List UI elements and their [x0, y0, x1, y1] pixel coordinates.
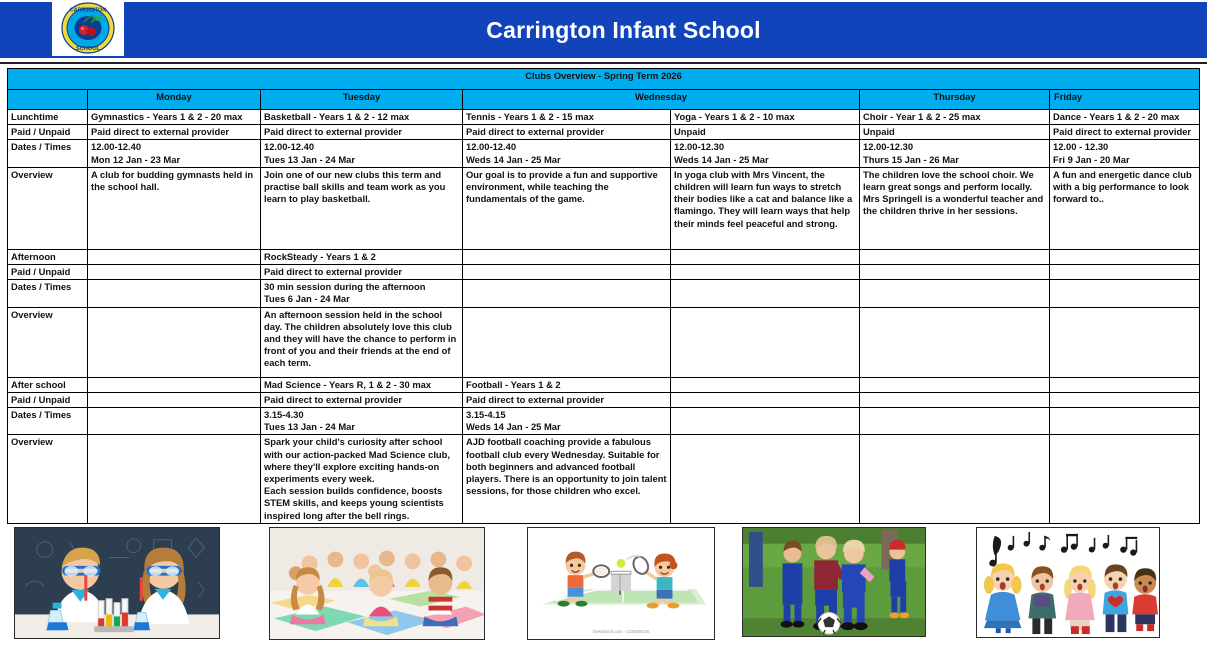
dates-times-0 [88, 408, 261, 435]
paid-status-0 [88, 265, 261, 280]
section-after_school-club-row: After schoolMad Science - Years R, 1 & 2… [8, 377, 1200, 392]
section-afternoon-dates-row: Dates / Times30 min session during the a… [8, 280, 1200, 307]
paid-status-2 [463, 265, 671, 280]
dates-times-5 [1050, 408, 1200, 435]
day-header-thursday[interactable]: Thursday [860, 90, 1050, 110]
dates-times-5 [1050, 280, 1200, 307]
club-name-1: RockSteady - Years 1 & 2 [261, 249, 463, 264]
section-lunchtime-dates-row: Dates / Times12.00-12.40Mon 12 Jan - 23 … [8, 140, 1200, 167]
row-label: Paid / Unpaid [8, 125, 88, 140]
club-name-5: Dance - Years 1 & 2 - 20 max [1050, 110, 1200, 125]
row-label: After school [8, 377, 88, 392]
section-afternoon-overview-row: OverviewAn afternoon session held in the… [8, 307, 1200, 377]
club-name-4 [860, 249, 1050, 264]
dates-times-2: 3.15-4.15Weds 14 Jan - 25 Mar [463, 408, 671, 435]
table-title-row: Clubs Overview - Spring Term 2026 [8, 69, 1200, 90]
row-label: Dates / Times [8, 408, 88, 435]
paid-status-4 [860, 265, 1050, 280]
photo-yoga-children [269, 527, 485, 640]
overview-text-1: Spark your child's curiosity after schoo… [261, 435, 463, 523]
row-label: Paid / Unpaid [8, 392, 88, 407]
overview-text-0 [88, 435, 261, 523]
section-after_school-paid-row: Paid / UnpaidPaid direct to external pro… [8, 392, 1200, 407]
overview-text-1: An afternoon session held in the school … [261, 307, 463, 377]
section-after_school-overview-row: OverviewSpark your child's curiosity aft… [8, 435, 1200, 523]
club-name-1: Basketball - Years 1 & 2 - 12 max [261, 110, 463, 125]
banner-divider [0, 62, 1207, 64]
section-after_school-dates-row: Dates / Times3.15-4.30Tues 13 Jan - 24 M… [8, 408, 1200, 435]
club-name-1: Mad Science - Years R, 1 & 2 - 30 max [261, 377, 463, 392]
overview-text-5 [1050, 435, 1200, 523]
club-name-2: Tennis - Years 1 & 2 - 15 max [463, 110, 671, 125]
club-name-5 [1050, 377, 1200, 392]
club-name-2: Football - Years 1 & 2 [463, 377, 671, 392]
dates-times-1: 3.15-4.30Tues 13 Jan - 24 Mar [261, 408, 463, 435]
school-logo: CARRINGTON SCHOOL [52, 0, 124, 56]
row-label: Dates / Times [8, 280, 88, 307]
table-corner-cell [8, 90, 88, 110]
dates-times-2: 12.00-12.40Weds 14 Jan - 25 Mar [463, 140, 671, 167]
paid-status-4 [860, 392, 1050, 407]
day-header-row: MondayTuesdayWednesdayThursdayFriday [8, 90, 1200, 110]
dates-times-4 [860, 280, 1050, 307]
photo-football-children [742, 527, 926, 637]
day-header-wednesday[interactable]: Wednesday [463, 90, 860, 110]
row-label: Overview [8, 167, 88, 249]
row-label: Paid / Unpaid [8, 265, 88, 280]
dates-times-3: 12.00-12.30Weds 14 Jan - 25 Mar [671, 140, 860, 167]
photo-watermark: thekidsrock.com - 2330606200 [593, 629, 650, 634]
row-label: Lunchtime [8, 110, 88, 125]
section-lunchtime-overview-row: OverviewA club for budding gymnasts held… [8, 167, 1200, 249]
overview-text-2: AJD football coaching provide a fabulous… [463, 435, 671, 523]
paid-status-3 [671, 392, 860, 407]
club-name-3 [671, 249, 860, 264]
paid-status-2: Paid direct to external provider [463, 392, 671, 407]
day-header-tuesday[interactable]: Tuesday [261, 90, 463, 110]
overview-text-3: In yoga club with Mrs Vincent, the child… [671, 167, 860, 249]
paid-status-2: Paid direct to external provider [463, 125, 671, 140]
logo-top-text: CARRINGTON [70, 8, 107, 14]
overview-text-3 [671, 307, 860, 377]
row-label: Overview [8, 435, 88, 523]
row-label: Afternoon [8, 249, 88, 264]
paid-status-1: Paid direct to external provider [261, 125, 463, 140]
overview-text-2 [463, 307, 671, 377]
club-name-3 [671, 377, 860, 392]
overview-text-4 [860, 435, 1050, 523]
paid-status-0 [88, 392, 261, 407]
school-crest-icon: CARRINGTON SCHOOL [60, 2, 116, 54]
table-title: Clubs Overview - Spring Term 2026 [8, 69, 1200, 90]
section-afternoon-club-row: AfternoonRockSteady - Years 1 & 2 [8, 249, 1200, 264]
page-banner: Carrington Infant School [0, 2, 1207, 58]
club-name-0 [88, 377, 261, 392]
club-name-2 [463, 249, 671, 264]
dates-times-2 [463, 280, 671, 307]
photo-science-children [14, 527, 220, 639]
row-label: Dates / Times [8, 140, 88, 167]
overview-text-3 [671, 435, 860, 523]
school-title: Carrington Infant School [0, 2, 1207, 58]
overview-text-4 [860, 307, 1050, 377]
paid-status-5 [1050, 392, 1200, 407]
dates-times-3 [671, 408, 860, 435]
section-afternoon-paid-row: Paid / UnpaidPaid direct to external pro… [8, 265, 1200, 280]
day-header-friday[interactable]: Friday [1050, 90, 1200, 110]
club-name-3: Yoga - Years 1 & 2 - 10 max [671, 110, 860, 125]
paid-status-4: Unpaid [860, 125, 1050, 140]
overview-text-1: Join one of our new clubs this term and … [261, 167, 463, 249]
paid-status-3 [671, 265, 860, 280]
paid-status-0: Paid direct to external provider [88, 125, 261, 140]
overview-text-0 [88, 307, 261, 377]
dates-times-3 [671, 280, 860, 307]
dates-times-5: 12.00 - 12.30Fri 9 Jan - 20 Mar [1050, 140, 1200, 167]
club-name-5 [1050, 249, 1200, 264]
paid-status-5: Paid direct to external provider [1050, 125, 1200, 140]
clubs-overview-table: Clubs Overview - Spring Term 2026MondayT… [7, 68, 1200, 524]
paid-status-1: Paid direct to external provider [261, 265, 463, 280]
overview-text-0: A club for budding gymnasts held in the … [88, 167, 261, 249]
club-name-0 [88, 249, 261, 264]
photo-strip: thekidsrock.com - 2330606200 [0, 527, 1207, 648]
dates-times-1: 30 min session during the afternoonTues … [261, 280, 463, 307]
overview-text-4: The children love the school choir. We l… [860, 167, 1050, 249]
dates-times-4: 12.00-12.30Thurs 15 Jan - 26 Mar [860, 140, 1050, 167]
dates-times-1: 12.00-12.40Tues 13 Jan - 24 Mar [261, 140, 463, 167]
dates-times-0: 12.00-12.40Mon 12 Jan - 23 Mar [88, 140, 261, 167]
paid-status-3: Unpaid [671, 125, 860, 140]
photo-choir-cartoon [976, 527, 1160, 638]
paid-status-1: Paid direct to external provider [261, 392, 463, 407]
overview-text-2: Our goal is to provide a fun and support… [463, 167, 671, 249]
overview-text-5: A fun and energetic dance club with a bi… [1050, 167, 1200, 249]
day-header-monday[interactable]: Monday [88, 90, 261, 110]
dates-times-4 [860, 408, 1050, 435]
photo-tennis-cartoon: thekidsrock.com - 2330606200 [527, 527, 715, 640]
overview-text-5 [1050, 307, 1200, 377]
section-lunchtime-paid-row: Paid / UnpaidPaid direct to external pro… [8, 125, 1200, 140]
section-lunchtime-club-row: LunchtimeGymnastics - Years 1 & 2 - 20 m… [8, 110, 1200, 125]
club-name-4: Choir - Year 1 & 2 - 25 max [860, 110, 1050, 125]
logo-bottom-text: SCHOOL [76, 46, 101, 52]
row-label: Overview [8, 307, 88, 377]
club-name-0: Gymnastics - Years 1 & 2 - 20 max [88, 110, 261, 125]
paid-status-5 [1050, 265, 1200, 280]
dates-times-0 [88, 280, 261, 307]
clubs-sheet: Clubs Overview - Spring Term 2026MondayT… [7, 68, 1199, 524]
club-name-4 [860, 377, 1050, 392]
